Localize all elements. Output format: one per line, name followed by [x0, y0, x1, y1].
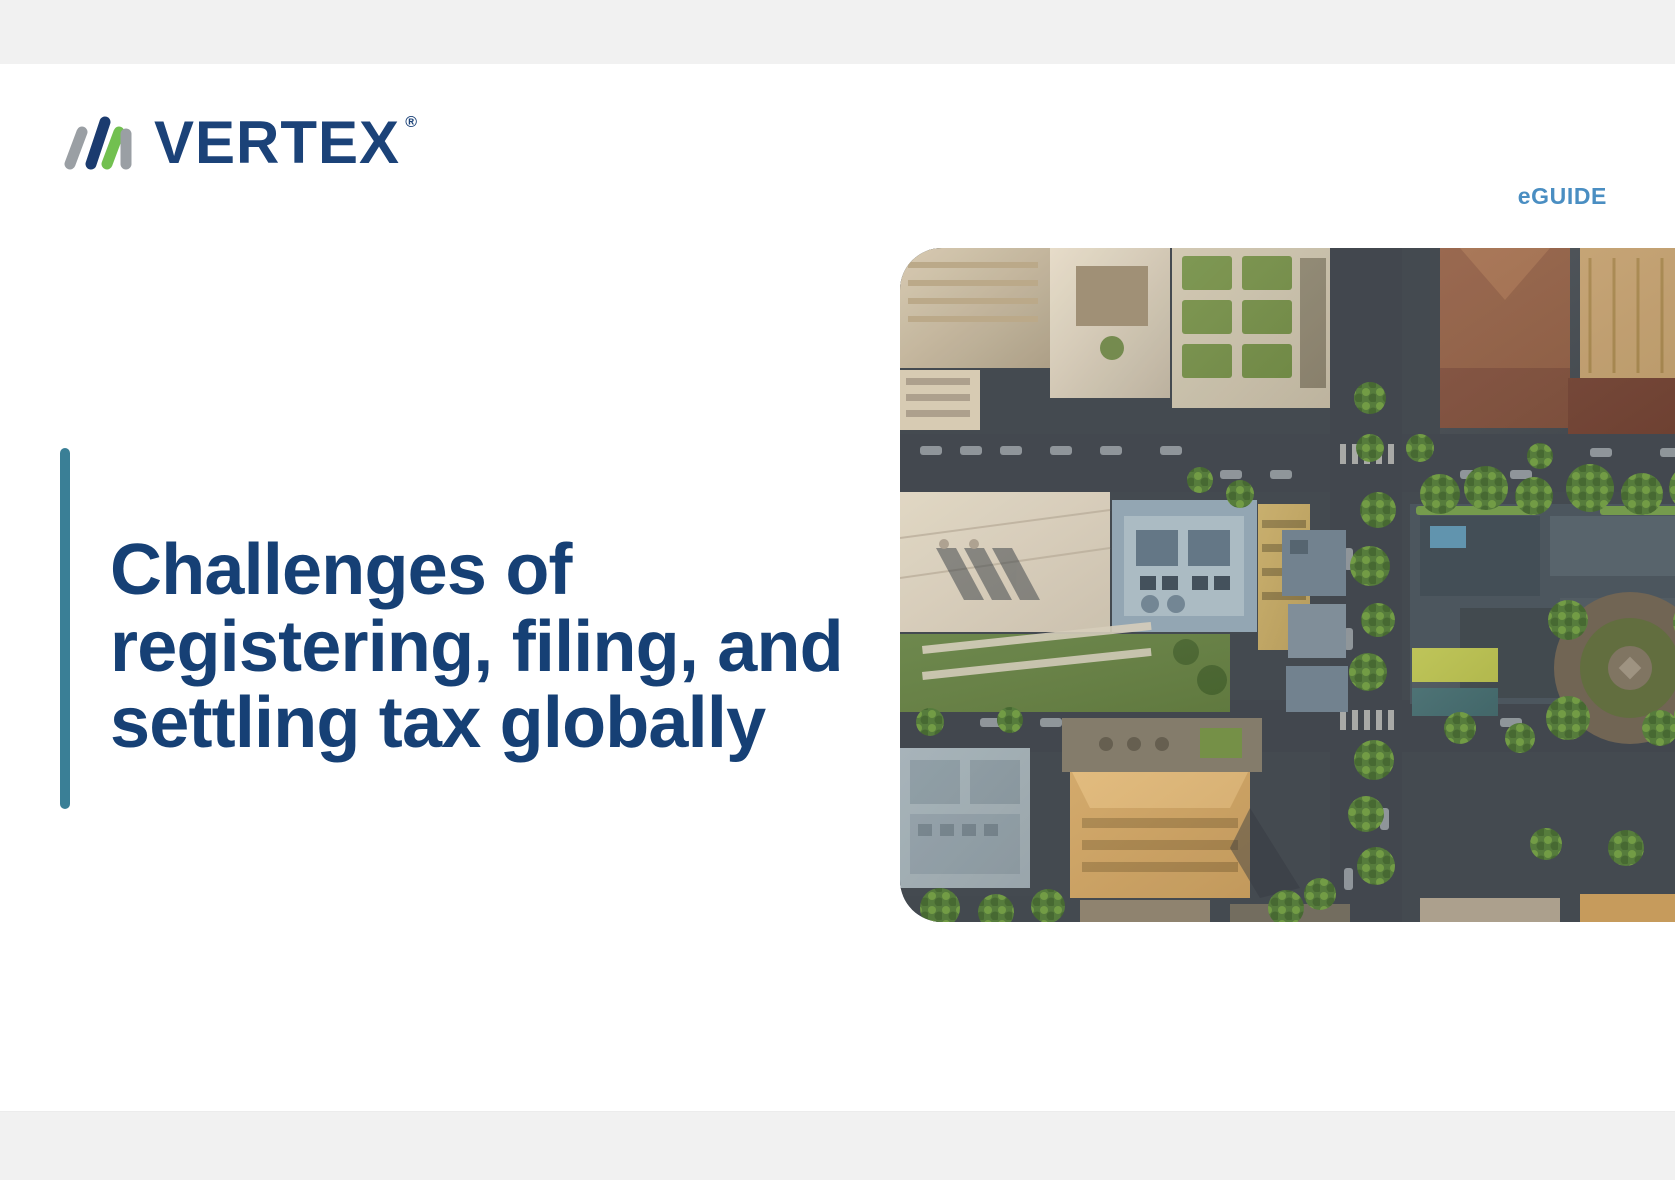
pdf-viewer-chrome: VERTEX ® eGUIDE Challenges of registerin… [0, 0, 1675, 1180]
aerial-city-illustration [900, 248, 1675, 922]
eguide-label: eGUIDE [1518, 183, 1607, 210]
title-accent-bar [60, 448, 70, 809]
document-page: VERTEX ® eGUIDE Challenges of registerin… [0, 64, 1675, 1112]
viewer-bottom-band [0, 1111, 1675, 1180]
title-line-3: settling tax globally [110, 685, 810, 761]
viewer-top-band [0, 0, 1675, 65]
title-line-2: registering, filing, and [110, 609, 810, 685]
title-block: Challenges of registering, filing, and s… [60, 448, 810, 809]
registered-trademark-symbol: ® [405, 115, 418, 131]
vertex-wordmark: VERTEX ® [154, 113, 400, 173]
vertex-logo-mark-icon [60, 112, 136, 174]
hero-aerial-city-image [900, 248, 1675, 922]
page-title: Challenges of registering, filing, and s… [110, 496, 810, 761]
vertex-logo[interactable]: VERTEX ® [60, 112, 400, 174]
vertex-wordmark-text: VERTEX [154, 109, 400, 176]
title-line-1: Challenges of [110, 532, 810, 608]
